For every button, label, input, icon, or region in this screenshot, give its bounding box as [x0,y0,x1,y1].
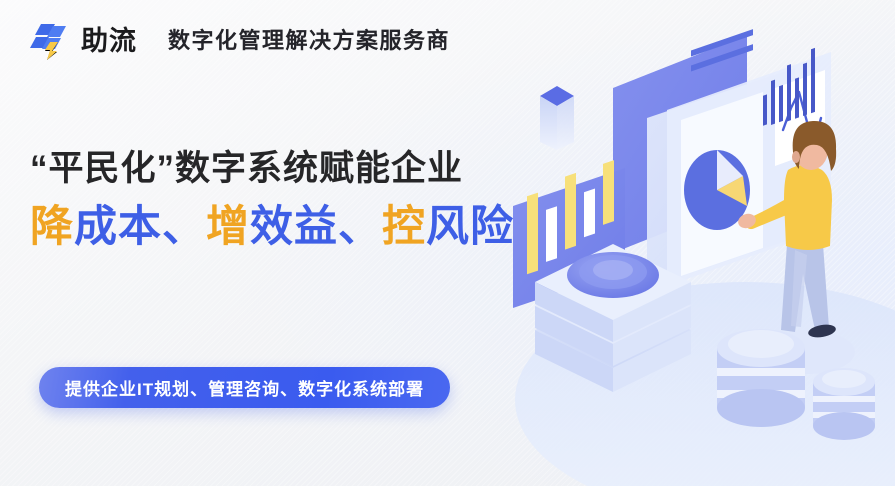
headline-seg-4: 控 [382,203,426,251]
brand-tagline: 数字化管理解决方案服务商 [168,30,450,52]
hero-illustration [495,0,895,486]
db-small [813,368,875,440]
cta-pill-button[interactable]: 提供企业IT规划、管理咨询、数字化系统部署 [39,367,450,408]
hero-headline: “平民化”数字系统赋能企业 降成本、增效益、控风险 [30,148,514,253]
headline-seg-1: 成本、 [74,203,206,251]
promo-banner: 助流 数字化管理解决方案服务商 “平民化”数字系统赋能企业 降成本、增效益、控风… [0,0,895,486]
headline-line-2: 降成本、增效益、控风险 [30,203,514,252]
brand-header: 助流 数字化管理解决方案服务商 [28,22,450,60]
headline-seg-2: 增 [206,203,250,251]
headline-seg-3: 效益、 [250,203,382,251]
brand-name: 助流 [81,28,137,55]
floating-cube-icon [540,86,574,150]
headline-seg-5: 风险 [426,203,514,251]
headline-line-1: “平民化”数字系统赋能企业 [30,148,514,189]
zhuliu-bolt-logo-icon [28,22,68,60]
db-large [717,329,805,427]
headline-seg-0: 降 [30,203,74,251]
